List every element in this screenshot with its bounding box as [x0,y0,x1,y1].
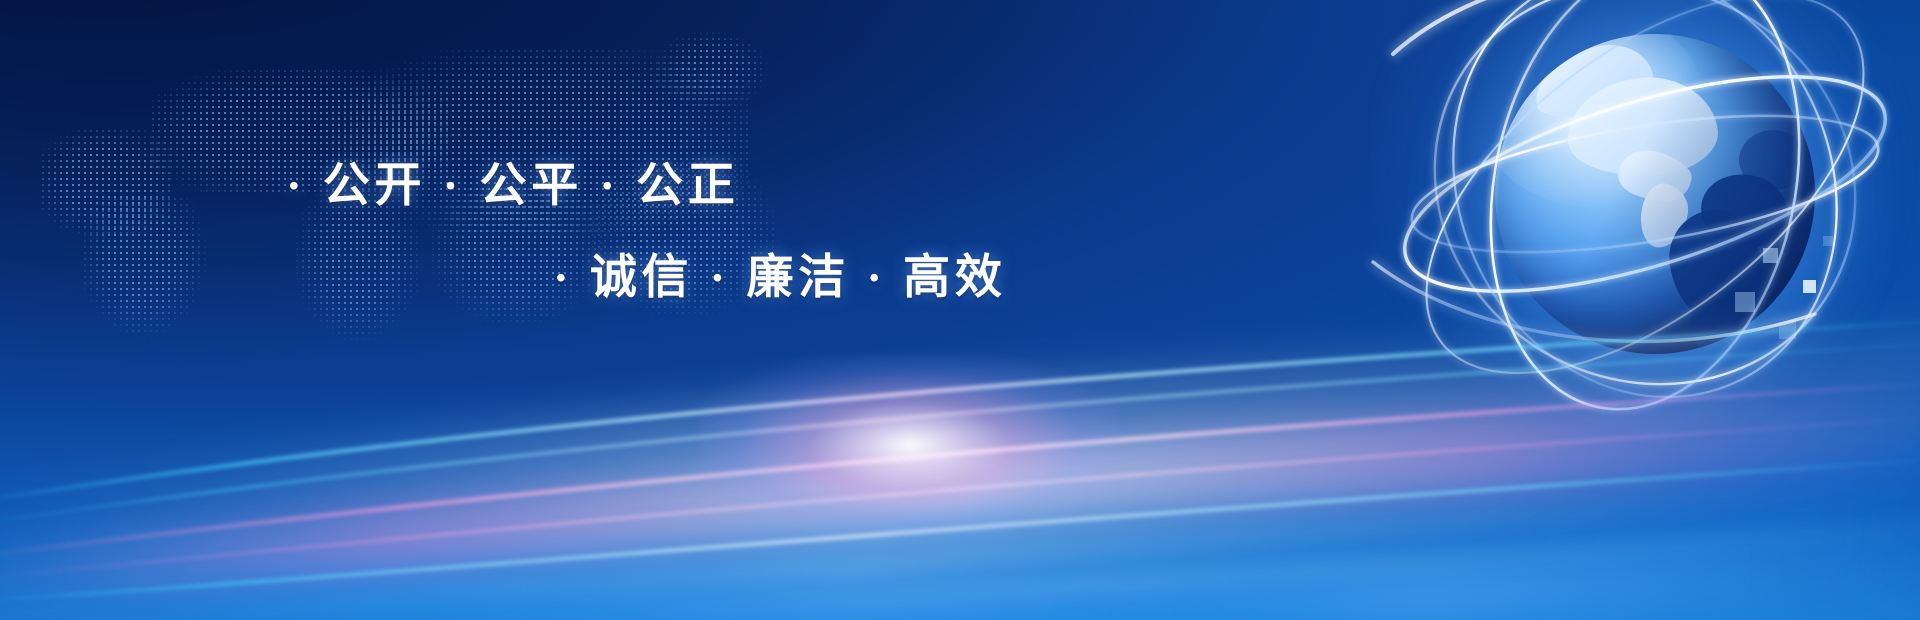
pixel-squares-icon [1823,236,1833,246]
light-streaks-icon [0,290,1920,620]
banner-root: · 公开 · 公平 · 公正 · 诚信 · 廉洁 · 高效 [0,0,1920,620]
pixel-squares-icon [1763,248,1778,263]
streak-core-glow [700,355,1120,535]
